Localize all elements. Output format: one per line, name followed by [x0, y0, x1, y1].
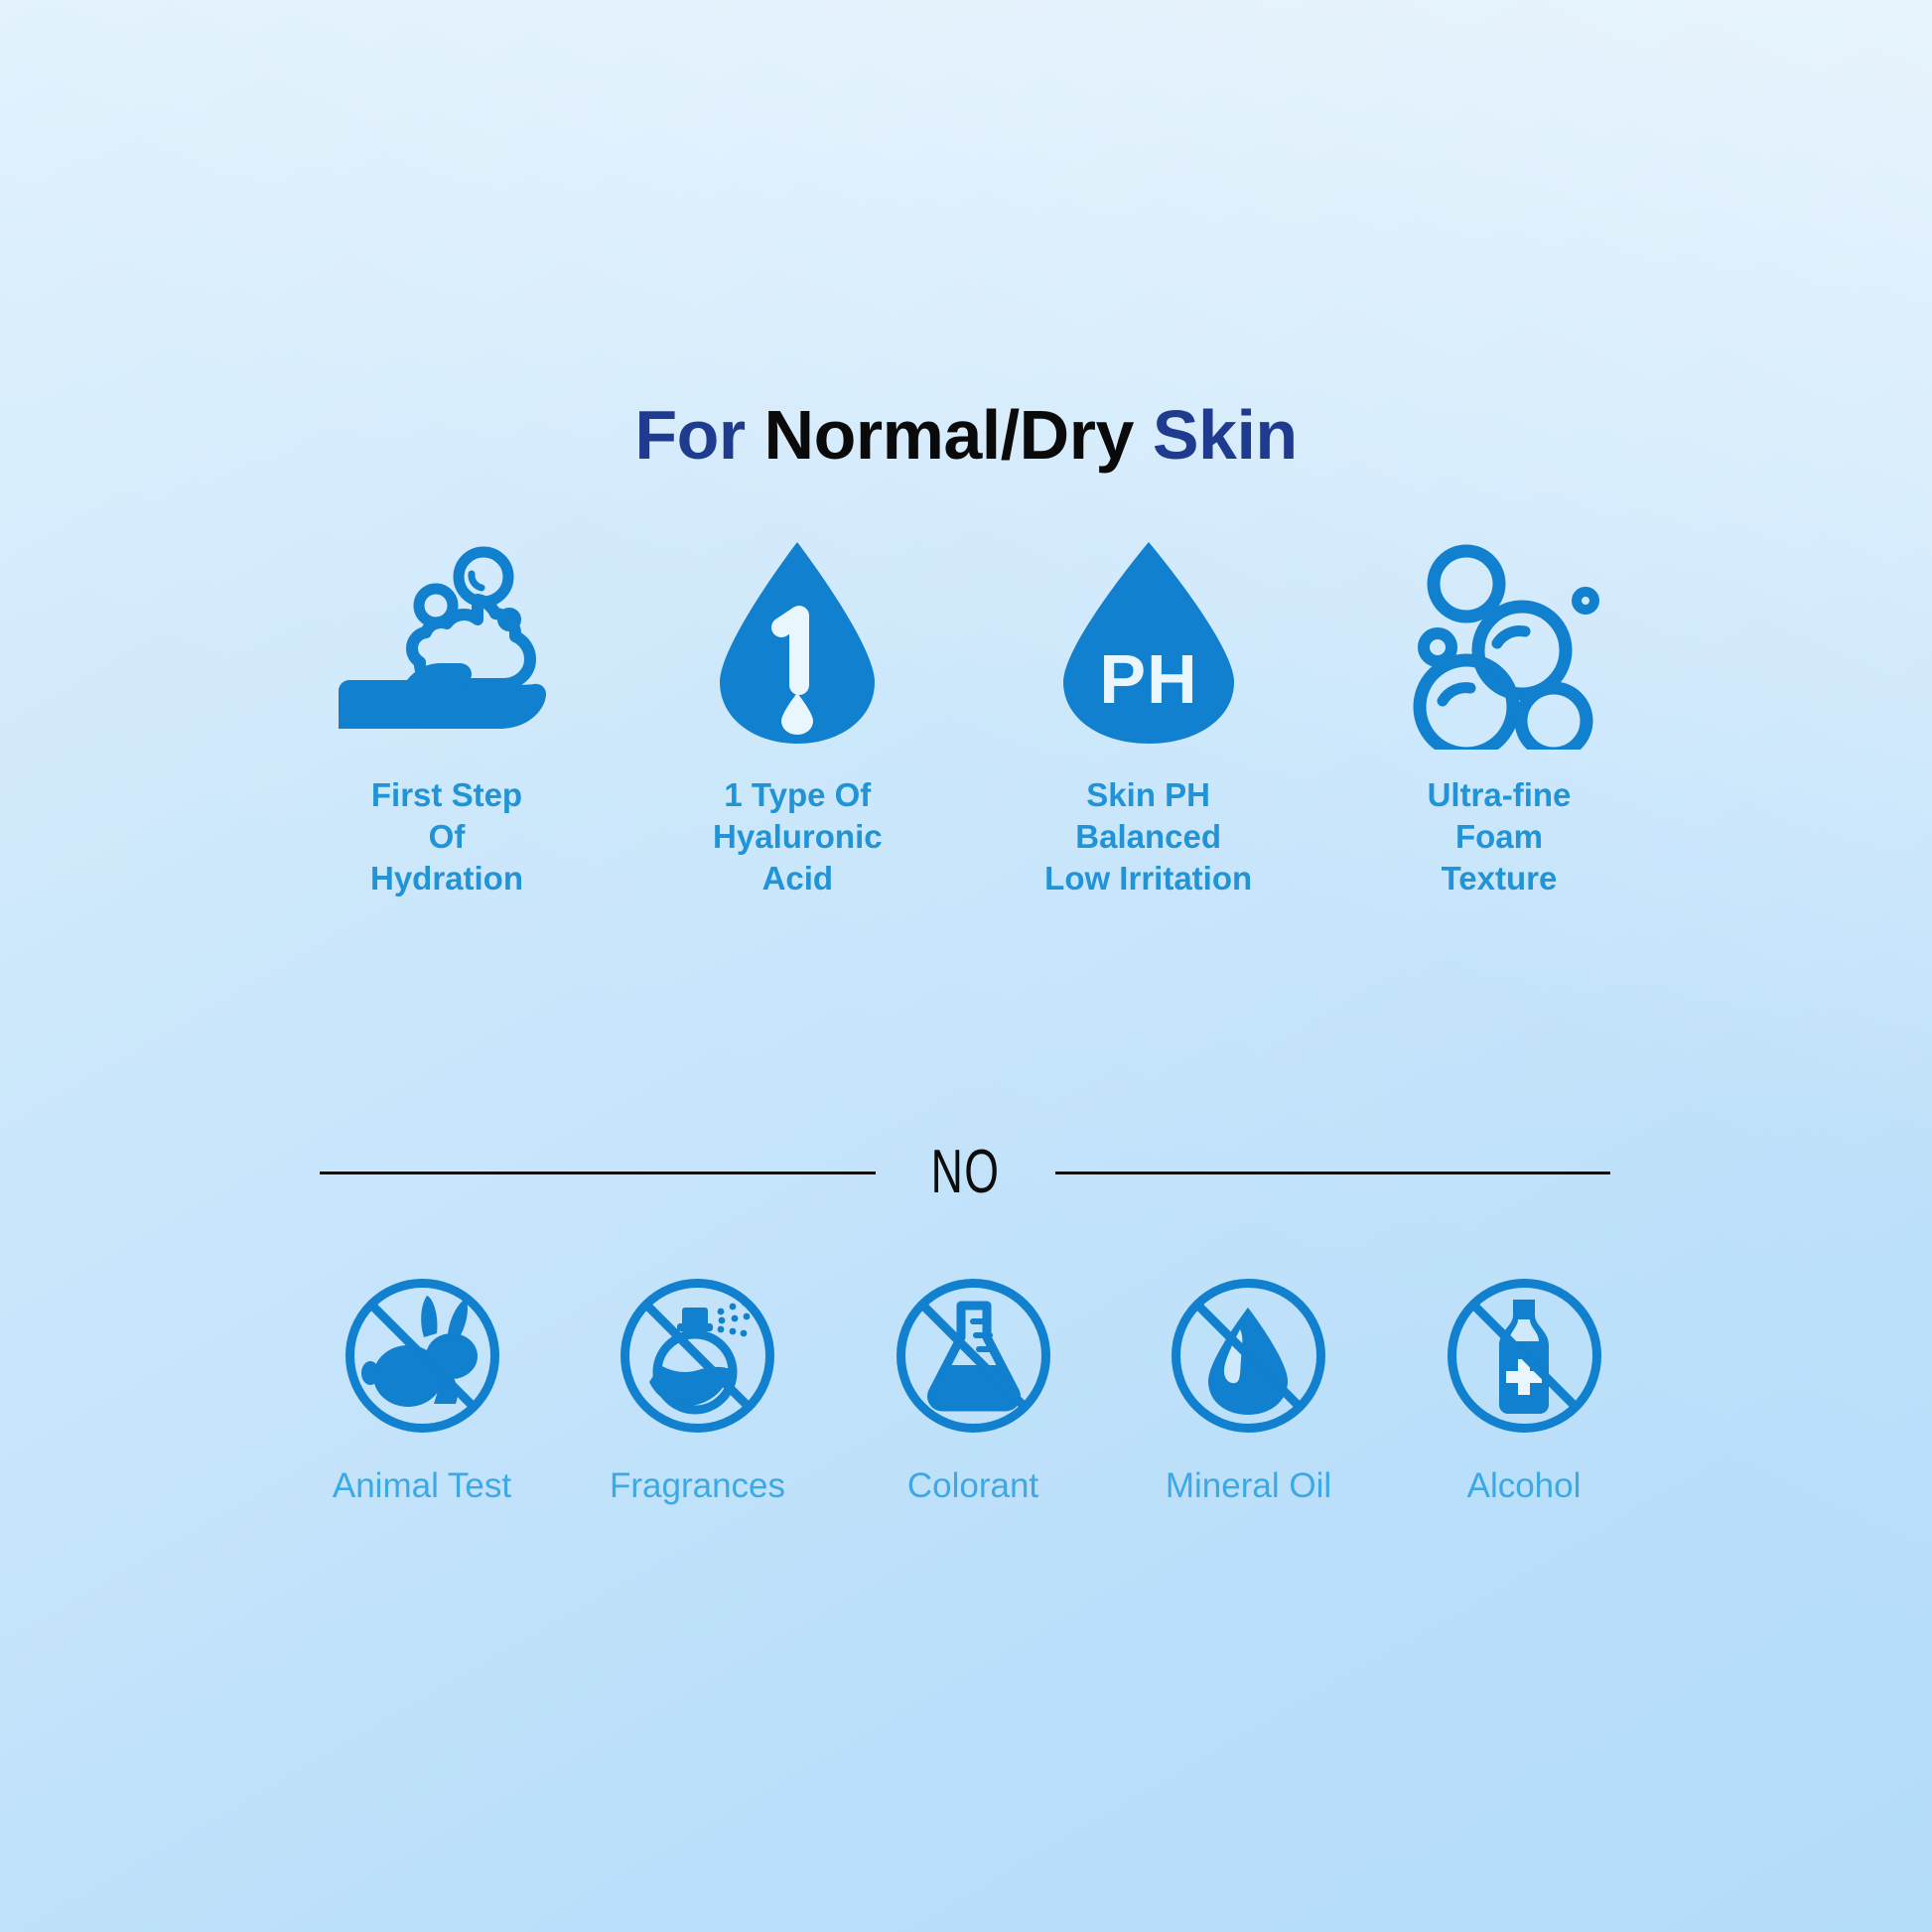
feature-list: First Step Of Hydration 1 Type Of Hyalur…: [298, 531, 1648, 900]
feature-item-ultra-fine-foam-texture: Ultra-fine Foam Texture: [1350, 531, 1648, 900]
no-fragrances-icon: [616, 1266, 779, 1445]
feature-label: Skin PH Balanced Low Irritation: [1044, 774, 1252, 900]
divider-label-no: NO: [927, 1142, 1003, 1203]
water-droplet-ph-icon: PH: [1049, 531, 1248, 755]
bubbles-foam-icon: [1395, 531, 1603, 755]
title-part-normal-dry: Normal/Dry: [764, 396, 1134, 474]
no-animal-test-icon: [341, 1266, 504, 1445]
free-from-label: Mineral Oil: [1166, 1466, 1331, 1506]
feature-item-1-type-of-hyaluronic-acid: 1 Type Of Hyaluronic Acid: [648, 531, 946, 900]
title-part-for: For: [634, 396, 763, 474]
feature-label: First Step Of Hydration: [370, 774, 523, 900]
free-from-label: Fragrances: [610, 1466, 785, 1506]
droplet-ph-text: PH: [1099, 640, 1197, 718]
hand-foam-bubbles-icon: [333, 531, 561, 755]
feature-item-first-step-of-hydration: First Step Of Hydration: [298, 531, 596, 900]
no-alcohol-icon: [1443, 1266, 1606, 1445]
divider-rule-left: [320, 1172, 876, 1174]
free-from-list: Animal Test: [298, 1266, 1648, 1506]
infographic-stage: For Normal/Dry Skin: [0, 0, 1932, 1932]
feature-label: 1 Type Of Hyaluronic Acid: [713, 774, 883, 900]
page-title: For Normal/Dry Skin: [0, 395, 1932, 475]
no-colorant-icon: [892, 1266, 1055, 1445]
free-from-label: Colorant: [907, 1466, 1038, 1506]
free-from-item-mineral-oil: Mineral Oil: [1125, 1266, 1373, 1506]
free-from-item-fragrances: Fragrances: [574, 1266, 822, 1506]
free-from-label: Animal Test: [333, 1466, 511, 1506]
no-mineral-oil-icon: [1167, 1266, 1330, 1445]
free-from-item-colorant: Colorant: [849, 1266, 1097, 1506]
feature-label: Ultra-fine Foam Texture: [1428, 774, 1572, 900]
feature-item-skin-ph-balanced: PH Skin PH Balanced Low Irritation: [1000, 531, 1298, 900]
free-from-item-alcohol: Alcohol: [1400, 1266, 1648, 1506]
title-part-skin: Skin: [1134, 396, 1298, 474]
water-droplet-one-icon: [708, 531, 887, 755]
divider-rule-right: [1055, 1172, 1611, 1174]
no-divider: NO: [320, 1142, 1610, 1203]
free-from-item-animal-test: Animal Test: [298, 1266, 546, 1506]
free-from-label: Alcohol: [1467, 1466, 1582, 1506]
